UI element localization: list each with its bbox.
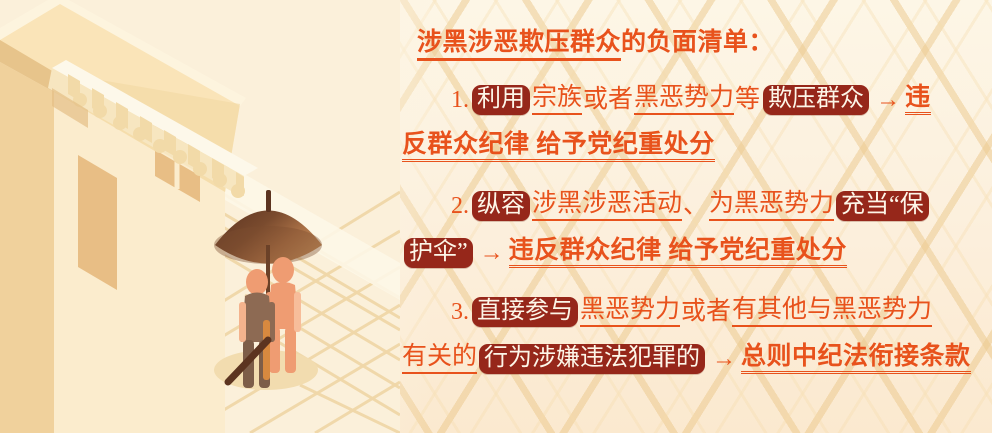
underlined-shehei-huodong: 涉黑涉恶活动 [532,191,682,221]
badge-zongrong: 纵容 [472,191,530,221]
poster-root: 涉黑涉恶欺压群众的负面清单： 1.利用宗族或者黑恶势力等欺压群众→违 反群众纪律… [0,0,992,433]
plain-huozhe: 或者 [680,299,732,324]
list-item: 2.纵容涉黑涉恶活动、为黑恶势力充当“保 [398,182,992,229]
text-column: 涉黑涉恶欺压群众的负面清单： 1.利用宗族或者黑恶势力等欺压群众→违 反群众纪律… [398,0,992,433]
underlined-heieshili: 黑恶势力 [580,297,680,327]
arrow-icon: → [707,347,741,371]
list-item: 1.利用宗族或者黑恶势力等欺压群众→违 [398,76,992,123]
list-item-number: 1. [451,88,469,112]
badge-weifafanzui: 行为涉嫌违法犯罪的 [479,344,705,374]
illustration-isometric-street-scene [0,0,400,433]
result-part1: 违 [905,85,931,115]
list-item-continuation: 护伞”→违反群众纪律 给予党纪重处分 [398,229,992,276]
result-text: 违反群众纪律 给予党纪重处分 [509,238,847,268]
list-container: 1.利用宗族或者黑恶势力等欺压群众→违 反群众纪律 给予党纪重处分 2.纵容涉黑… [398,76,992,382]
badge-liyong: 利用 [472,85,530,115]
plain-huozhe: 或者 [582,87,634,112]
arrow-icon: → [475,241,509,265]
result-text: 总则中纪法衔接条款 [741,344,971,374]
underlined-youqita: 有其他与黑恶势力 [732,297,932,327]
plain-deng: 等 [734,87,761,112]
list-item-continuation: 反群众纪律 给予党纪重处分 [398,123,992,170]
badge-zhijiecanyu: 直接参与 [472,297,578,327]
list-item-continuation: 有关的行为涉嫌违法犯罪的→总则中纪法衔接条款 [398,335,992,382]
underlined-weiheieshili: 为黑恶势力 [709,191,834,221]
underlined-youguande: 有关的 [402,344,477,374]
list-item: 3.直接参与黑恶势力或者有其他与黑恶势力 [398,288,992,335]
page-title: 涉黑涉恶欺压群众的负面清单： [417,22,774,58]
plain-comma: 、 [682,193,709,218]
result-part2: 反群众纪律 给予党纪重处分 [402,132,715,162]
list-item-number: 3. [451,300,469,324]
badge-husan: 护伞” [404,238,473,268]
badge-qiyaqunzhong: 欺压群众 [763,85,869,115]
page-title-rest: 的负面清单： [621,29,774,56]
badge-chongdangbao: 充当“保 [836,191,929,221]
door [78,155,117,290]
underlined-zongzu: 宗族 [532,85,582,115]
list-item-number: 2. [451,194,469,218]
underlined-heieshili: 黑恶势力 [634,85,734,115]
page-title-emphasis: 涉黑涉恶欺压群众 [417,29,621,61]
arrow-icon: → [871,88,905,112]
